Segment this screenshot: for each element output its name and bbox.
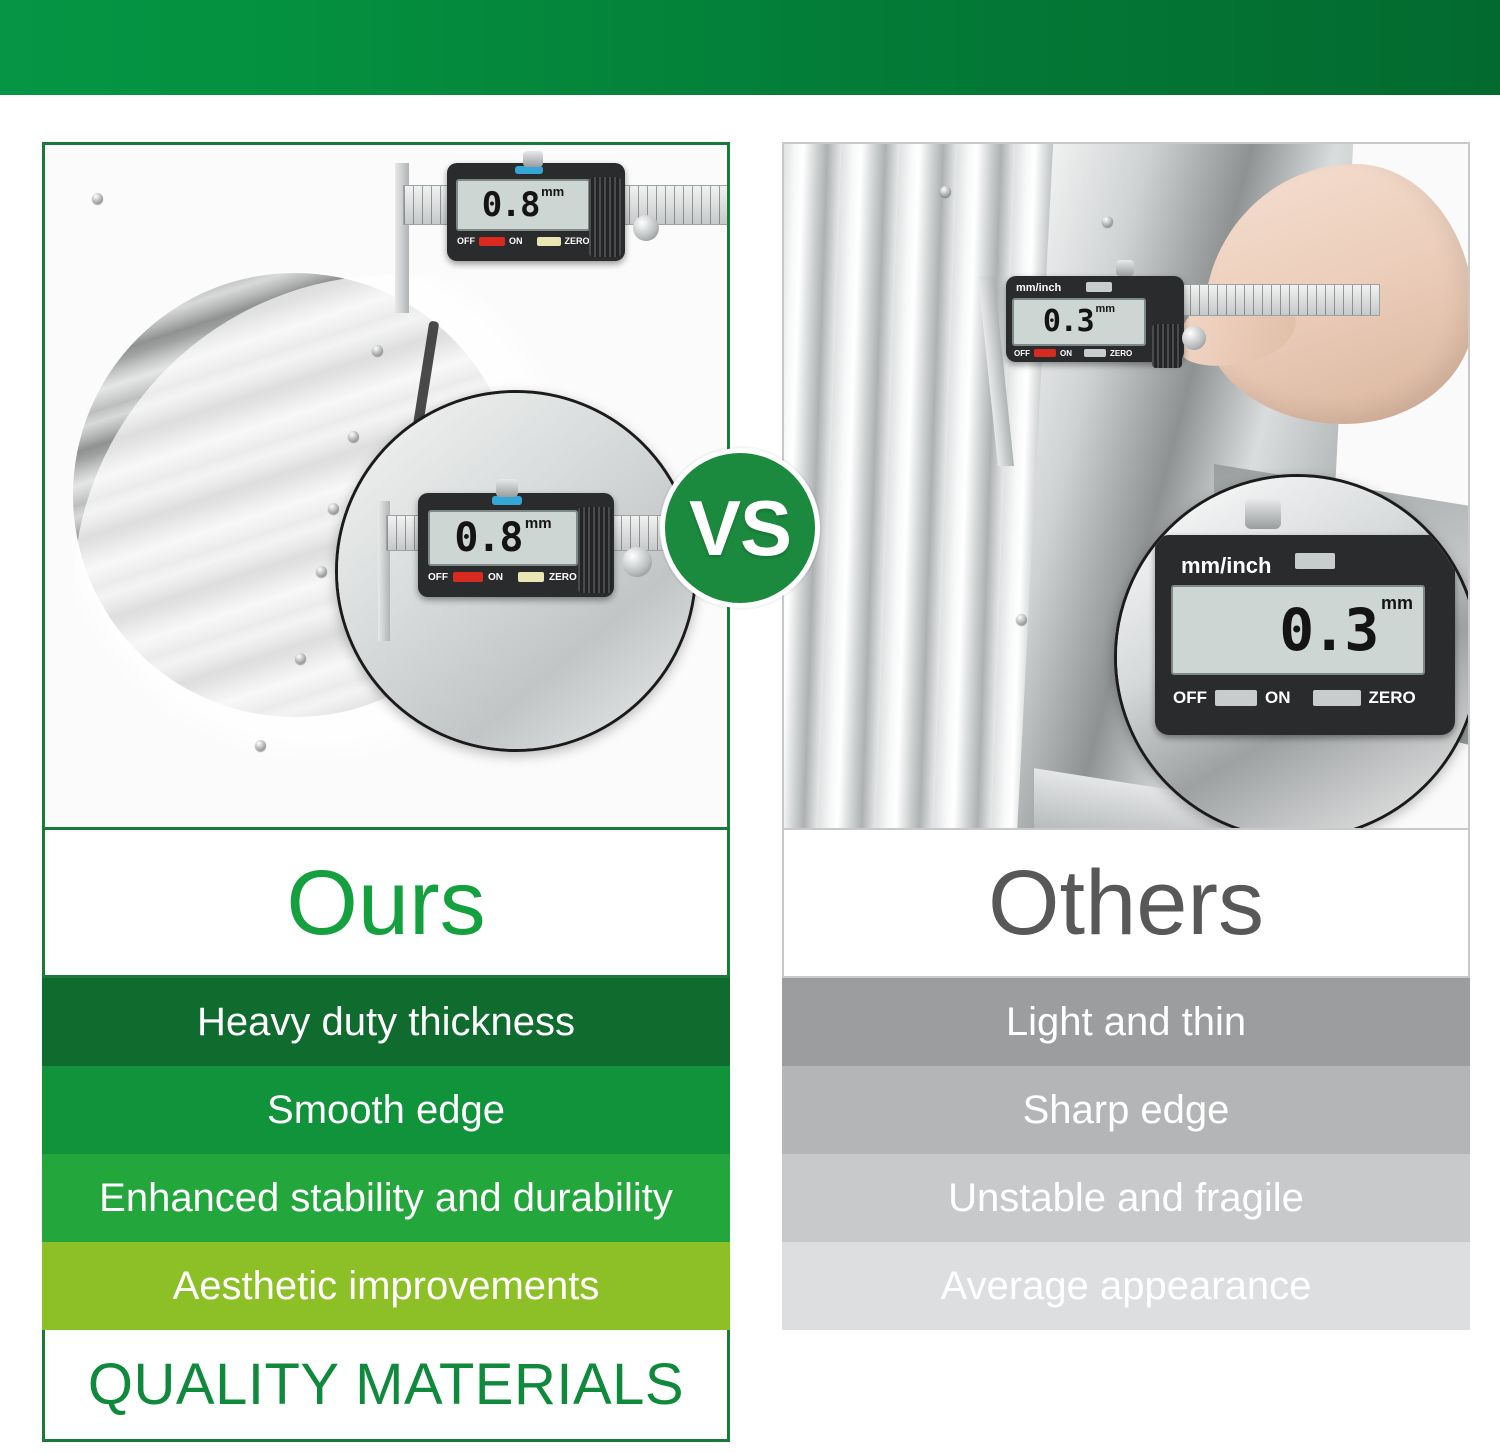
caliper-off-label: OFF bbox=[457, 236, 475, 246]
caliper-ruler bbox=[1162, 284, 1380, 316]
inset-power-switch bbox=[453, 572, 483, 582]
inset-caliper-blue-button bbox=[492, 496, 522, 505]
ours-feature-row-2: Smooth edge bbox=[42, 1066, 730, 1154]
inset-caliper-body: 0.8 mm OFF ON ZERO bbox=[418, 493, 614, 597]
inset-caliper-off-label: OFF bbox=[428, 572, 448, 583]
inset-caliper-mode-label: mm/inch bbox=[1181, 553, 1271, 579]
rivet-icon bbox=[92, 193, 103, 204]
rivet-icon bbox=[940, 186, 951, 197]
others-product-photo: mm/inch 0.3 mm OFF ON ZERO bbox=[782, 142, 1470, 830]
inset-caliper-thumb-wheel bbox=[622, 547, 652, 577]
others-magnified-inset: mm/inch 0.3 mm OFF ON ZERO bbox=[1114, 474, 1470, 830]
inset-caliper-button-row: OFF ON ZERO bbox=[1173, 685, 1445, 711]
inset-zero-switch bbox=[1313, 690, 1361, 706]
vs-label: VS bbox=[689, 489, 791, 567]
caliper-display: 0.3 mm bbox=[1012, 298, 1146, 346]
inset-caliper-zero-label: ZERO bbox=[549, 572, 577, 583]
inset-caliper-unit: mm bbox=[525, 515, 552, 532]
caliper-thumb-grip bbox=[589, 177, 621, 257]
caliper-on-label: ON bbox=[1060, 349, 1072, 358]
ours-panel: 0.8 mm OFF ON ZERO bbox=[42, 142, 730, 1442]
inset-caliper-value: 0.8 bbox=[454, 518, 521, 558]
ours-magnified-inset: 0.8 mm OFF ON ZERO bbox=[335, 390, 697, 752]
digital-caliper: 0.8 mm OFF ON ZERO bbox=[393, 157, 730, 317]
caliper-thumb-grip bbox=[1152, 324, 1182, 368]
caliper-value: 0.8 bbox=[482, 188, 539, 222]
top-green-banner bbox=[0, 0, 1500, 95]
zero-switch bbox=[1084, 349, 1106, 357]
caliper-on-label: ON bbox=[509, 236, 523, 246]
ours-feature-label: Enhanced stability and durability bbox=[99, 1178, 673, 1218]
inset-caliper-lock-screw bbox=[1245, 499, 1281, 529]
quality-materials-label: QUALITY MATERIALS bbox=[88, 1356, 684, 1414]
caliper-lock-screw bbox=[523, 151, 543, 167]
ours-feature-rows: Heavy duty thickness Smooth edge Enhance… bbox=[42, 978, 730, 1330]
caliper-body: 0.8 mm OFF ON ZERO bbox=[447, 163, 625, 261]
caliper-zero-label: ZERO bbox=[1110, 349, 1132, 358]
others-feature-label: Light and thin bbox=[1006, 1002, 1246, 1042]
others-feature-row-4: Average appearance bbox=[782, 1242, 1470, 1330]
ruler-ticks bbox=[1163, 285, 1379, 315]
ours-feature-row-4: Aesthetic improvements bbox=[42, 1242, 730, 1330]
others-feature-label: Sharp edge bbox=[1023, 1090, 1230, 1130]
inset-caliper-zero-label: ZERO bbox=[1369, 688, 1416, 708]
caliper-lock-screw bbox=[1116, 260, 1134, 276]
mode-switch bbox=[1086, 282, 1112, 292]
inset-caliper-value: 0.3 bbox=[1279, 601, 1377, 659]
inset-caliper-display: 0.8 mm bbox=[428, 510, 578, 566]
inset-zero-switch bbox=[518, 572, 544, 582]
inset-digital-caliper: 0.8 mm OFF ON ZERO bbox=[378, 491, 678, 641]
power-switch bbox=[1034, 349, 1056, 357]
rivet-icon bbox=[255, 740, 266, 751]
ours-product-photo: 0.8 mm OFF ON ZERO bbox=[42, 142, 730, 830]
inset-mode-switch bbox=[1295, 553, 1335, 569]
others-feature-row-3: Unstable and fragile bbox=[782, 1154, 1470, 1242]
inset-caliper-on-label: ON bbox=[488, 572, 503, 583]
rivet-icon bbox=[316, 566, 327, 577]
others-panel: mm/inch 0.3 mm OFF ON ZERO bbox=[782, 142, 1470, 1330]
inset-power-switch bbox=[1215, 690, 1257, 706]
inset-caliper-thumb-grip bbox=[578, 507, 612, 593]
others-feature-label: Average appearance bbox=[941, 1266, 1312, 1306]
inset-caliper-lock-screw bbox=[496, 479, 518, 497]
ours-feature-row-1: Heavy duty thickness bbox=[42, 978, 730, 1066]
rivet-icon bbox=[1016, 614, 1027, 625]
caliper-blue-button bbox=[515, 166, 543, 174]
rivet-icon bbox=[295, 653, 306, 664]
caliper-body: mm/inch 0.3 mm OFF ON ZERO bbox=[1006, 276, 1184, 362]
digital-caliper: mm/inch 0.3 mm OFF ON ZERO bbox=[982, 270, 1382, 390]
inset-caliper-on-label: ON bbox=[1265, 688, 1291, 708]
inset-caliper-off-label: OFF bbox=[1173, 688, 1207, 708]
ours-heading-box: Ours bbox=[42, 830, 730, 978]
ours-feature-label: Smooth edge bbox=[267, 1090, 505, 1130]
caliper-thumb-wheel bbox=[1182, 326, 1206, 350]
inset-caliper-body: mm/inch 0.3 mm OFF ON ZERO bbox=[1155, 535, 1455, 735]
caliper-mode-label: mm/inch bbox=[1016, 282, 1061, 294]
others-feature-row-2: Sharp edge bbox=[782, 1066, 1470, 1154]
power-switch bbox=[479, 237, 505, 246]
rivet-icon bbox=[1102, 216, 1113, 227]
caliper-thumb-wheel bbox=[633, 215, 659, 241]
others-heading: Others bbox=[988, 857, 1264, 949]
comparison-section: 0.8 mm OFF ON ZERO bbox=[0, 95, 1500, 1454]
vs-badge: VS bbox=[660, 448, 820, 608]
inset-caliper-display: 0.3 mm bbox=[1171, 585, 1425, 675]
caliper-zero-label: ZERO bbox=[565, 236, 590, 246]
ours-feature-row-3: Enhanced stability and durability bbox=[42, 1154, 730, 1242]
ours-heading: Ours bbox=[286, 857, 485, 949]
caliper-unit: mm bbox=[1096, 303, 1116, 315]
others-heading-box: Others bbox=[782, 830, 1470, 978]
caliper-value: 0.3 bbox=[1043, 307, 1094, 337]
caliper-display: 0.8 mm bbox=[456, 179, 590, 231]
zero-switch bbox=[537, 237, 561, 246]
others-feature-row-1: Light and thin bbox=[782, 978, 1470, 1066]
ours-feature-label: Aesthetic improvements bbox=[173, 1266, 600, 1306]
others-feature-label: Unstable and fragile bbox=[948, 1178, 1304, 1218]
ours-feature-label: Heavy duty thickness bbox=[197, 1002, 575, 1042]
inset-caliper-unit: mm bbox=[1381, 593, 1413, 614]
quality-materials-box: QUALITY MATERIALS bbox=[42, 1330, 730, 1442]
caliper-unit: mm bbox=[541, 184, 564, 199]
caliper-off-label: OFF bbox=[1014, 349, 1030, 358]
rivet-icon bbox=[372, 345, 383, 356]
others-feature-rows: Light and thin Sharp edge Unstable and f… bbox=[782, 978, 1470, 1330]
